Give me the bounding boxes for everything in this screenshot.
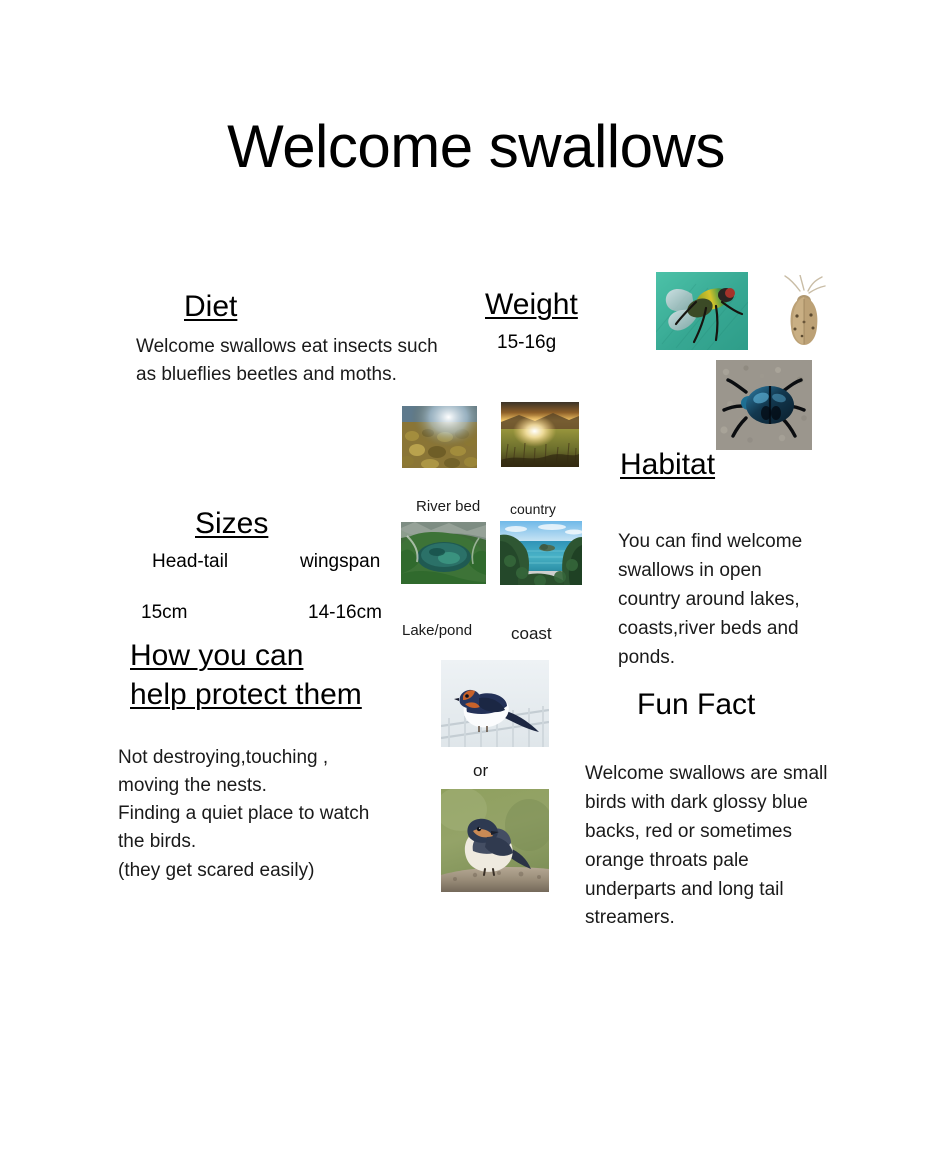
lake-photo xyxy=(401,522,486,584)
blue-beetle-photo xyxy=(716,360,812,450)
weight-heading: Weight xyxy=(485,288,578,322)
country-sunset-photo xyxy=(501,402,579,467)
sizes-head-tail-label: Head-tail xyxy=(152,550,228,574)
diet-heading: Diet xyxy=(184,290,237,324)
weight-value: 15-16g xyxy=(497,331,556,355)
or-caption: or xyxy=(473,762,488,780)
habitat-body-line-2: swallows in open xyxy=(618,556,762,585)
protect-body-line-4: the birds. xyxy=(118,828,196,856)
protect-heading-line-2: help protect them xyxy=(130,676,390,714)
fun-fact-body-line-6: streamers. xyxy=(585,903,675,932)
habitat-body-line-1: You can find welcome xyxy=(618,527,802,556)
fun-fact-body-line-3: backs, red or sometimes xyxy=(585,817,792,846)
coast-caption: coast xyxy=(511,625,552,643)
diet-body-line-1: Welcome swallows eat insects such xyxy=(136,333,466,361)
sizes-wingspan-value: 14-16cm xyxy=(308,601,382,625)
country-caption: country xyxy=(510,500,556,518)
lake-pond-caption: Lake/pond xyxy=(402,622,472,640)
sizes-head-tail-value: 15cm xyxy=(141,601,187,625)
protect-body-line-2: moving the nests. xyxy=(118,772,267,800)
protect-body-line-1: Not destroying,touching , xyxy=(118,744,328,772)
habitat-heading: Habitat xyxy=(620,448,715,482)
page-title: Welcome swallows xyxy=(0,108,952,186)
sizes-wingspan-label: wingspan xyxy=(300,550,380,574)
habitat-body-line-4: coasts,river beds and xyxy=(618,614,799,643)
habitat-body-line-5: ponds. xyxy=(618,643,675,672)
fun-fact-body-line-5: underparts and long tail xyxy=(585,875,784,904)
protect-heading-line-1: How you can xyxy=(130,637,380,675)
river-bed-caption: River bed xyxy=(416,498,480,516)
fun-fact-body-line-1: Welcome swallows are small xyxy=(585,759,828,788)
swallow-fledgling-photo xyxy=(441,789,549,892)
fun-fact-heading: Fun Fact xyxy=(637,688,755,722)
swallow-on-fence-photo xyxy=(441,660,549,747)
diet-body-line-2: as blueflies beetles and moths. xyxy=(136,361,466,389)
moth-photo xyxy=(782,275,826,349)
river-bed-photo xyxy=(402,406,477,468)
habitat-body-line-3: country around lakes, xyxy=(618,585,800,614)
greenbottle-fly-photo xyxy=(656,272,748,350)
fun-fact-body-line-2: birds with dark glossy blue xyxy=(585,788,808,817)
poster-canvas: Welcome swallows Diet Welcome swallows e… xyxy=(0,0,952,1158)
protect-body-line-5: (they get scared easily) xyxy=(118,857,314,885)
coast-photo xyxy=(500,521,582,585)
protect-body-line-3: Finding a quiet place to watch xyxy=(118,800,369,828)
fun-fact-body-line-4: orange throats pale xyxy=(585,846,749,875)
sizes-heading: Sizes xyxy=(195,507,268,541)
